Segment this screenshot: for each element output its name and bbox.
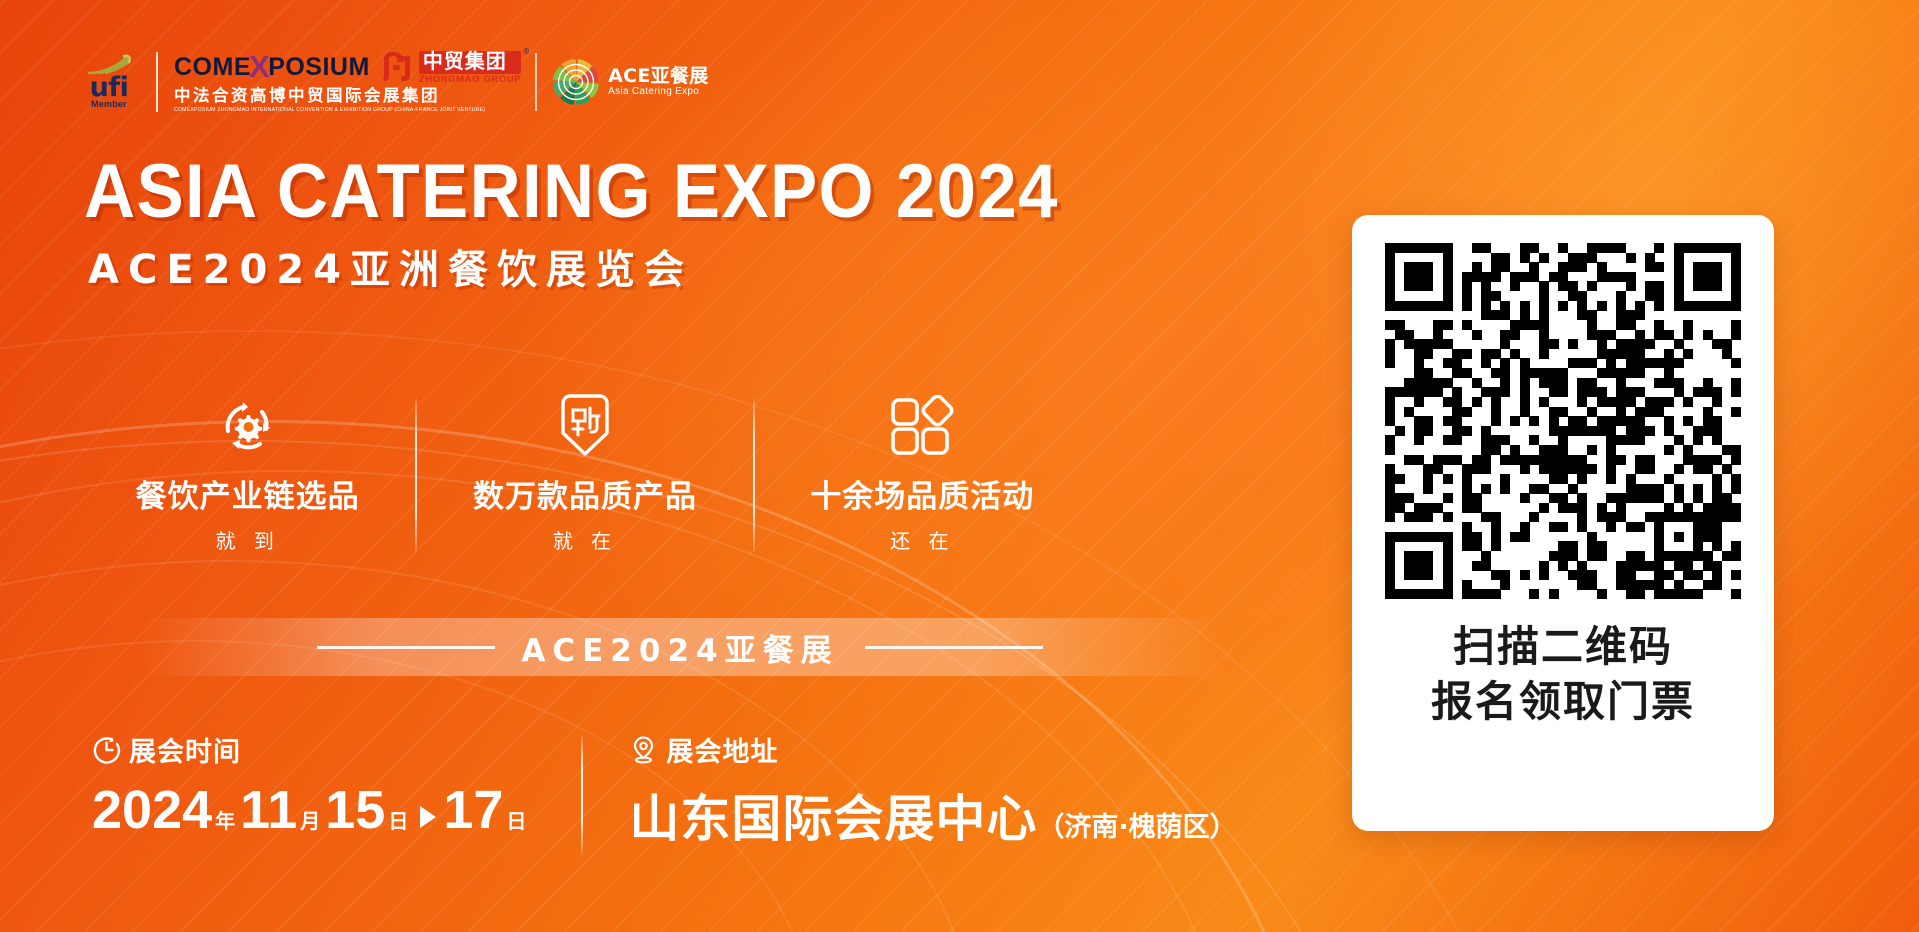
- event-venue-value: 山东国际会展中心 （济南·槐荫区）: [629, 779, 1236, 851]
- zhongmao-text: 中贸集团® ZHONGMAO GROUP: [419, 51, 521, 85]
- gear-cycle-icon: [216, 395, 280, 457]
- venue-name: 山东国际会展中心: [629, 779, 1037, 851]
- feature-icon-wrap: [889, 395, 955, 457]
- registered-trademark-icon: ®: [523, 48, 530, 56]
- event-venue-header: 展会地址: [629, 730, 1236, 769]
- event-month-unit: 月: [300, 805, 320, 834]
- comexposium-logo: COMEXPOSIUM 中贸集团® ZHONGMAO GROUP 中法合资高博中…: [174, 50, 521, 113]
- event-time-block: 展会时间 2024 年 11 月 15 日 17 日: [92, 730, 531, 841]
- ribbon-text: ACE2024亚餐展: [521, 625, 838, 670]
- zhongmao-english-name: ZHONGMAO GROUP: [419, 75, 521, 85]
- shield-quality-icon: [556, 393, 614, 459]
- feature-subtitle: 就 到: [215, 525, 279, 554]
- promo-banner: ufi Member COMEXPOSIUM 中贸集团® ZHONGMAO: [0, 0, 1919, 932]
- comexposium-chinese-name: 中法合资高博中贸国际会展集团: [174, 87, 521, 104]
- ribbon-line-right: [865, 646, 1043, 649]
- event-year-unit: 年: [215, 805, 235, 834]
- comexposium-x-glyph: X: [249, 55, 270, 80]
- ufi-wordmark: ufi: [90, 75, 129, 101]
- location-pin-icon: [629, 735, 658, 764]
- ace-chinese-name: ACE亚餐展: [608, 67, 708, 87]
- event-venue-label: 展会地址: [666, 730, 778, 769]
- event-day-end-unit: 日: [506, 805, 526, 834]
- feature-icon-wrap: [216, 395, 280, 457]
- logo-divider: [156, 52, 158, 112]
- event-info-row: 展会时间 2024 年 11 月 15 日 17 日: [92, 730, 1237, 854]
- page-subtitle: ACE2024亚洲餐饮展览会: [88, 237, 693, 295]
- event-year: 2024: [92, 779, 212, 841]
- event-day-end: 17: [443, 779, 503, 841]
- event-time-header: 展会时间: [92, 730, 531, 769]
- ribbon-line-left: [317, 646, 495, 649]
- logo-divider: [535, 53, 537, 111]
- comexposium-name-right: POSIUM: [268, 53, 370, 82]
- comexposium-top-row: COMEXPOSIUM 中贸集团® ZHONGMAO GROUP: [174, 50, 521, 84]
- feature-title: 数万款品质产品: [473, 471, 697, 516]
- feature-title: 十余场品质活动: [810, 471, 1034, 516]
- ace-logo: ACE亚餐展 Asia Catering Expo: [551, 57, 708, 107]
- qr-caption-line-1: 扫描二维码: [1431, 619, 1695, 674]
- zhongmao-logo: 中贸集团® ZHONGMAO GROUP: [380, 50, 521, 84]
- zhongmao-chinese-name: 中贸集团®: [419, 51, 521, 74]
- feature-icon-wrap: [556, 395, 614, 457]
- feature-item-supply-chain: 餐饮产业链选品 就 到: [80, 395, 415, 554]
- event-time-label: 展会时间: [129, 730, 241, 769]
- page-title: ASIA CATERING EXPO 2024: [84, 148, 1059, 235]
- zhongmao-mark-icon: [380, 50, 414, 84]
- ace-english-name: Asia Catering Expo: [608, 87, 708, 98]
- sponsor-logo-row: ufi Member COMEXPOSIUM 中贸集团® ZHONGMAO: [78, 44, 709, 120]
- comexposium-english-name: COMEXPOSIUM ZHONGMAO INTERNATIONAL CONVE…: [174, 108, 521, 114]
- four-shapes-icon: [889, 395, 955, 457]
- qr-caption-line-2: 报名领取门票: [1431, 674, 1695, 729]
- ace-logo-text: ACE亚餐展 Asia Catering Expo: [608, 67, 708, 97]
- qr-registration-card[interactable]: 扫描二维码 报名领取门票: [1352, 215, 1774, 831]
- feature-item-quality-products: 数万款品质产品 就 在: [417, 395, 752, 554]
- ribbon-strip: ACE2024亚餐展: [140, 618, 1220, 676]
- date-range-arrow-icon: [420, 806, 436, 828]
- event-month: 11: [240, 779, 297, 841]
- feature-subtitle: 还 在: [890, 525, 954, 554]
- ufi-logo: ufi Member: [78, 54, 140, 111]
- venue-district: （济南·槐荫区）: [1037, 805, 1236, 844]
- qr-code-image[interactable]: [1385, 243, 1741, 599]
- clock-icon: [92, 735, 121, 764]
- info-divider: [581, 736, 583, 854]
- feature-list: 餐饮产业链选品 就 到 数万款品质产品 就: [80, 395, 1090, 554]
- event-day-start: 15: [325, 779, 385, 841]
- feature-item-quality-events: 十余场品质活动 还 在: [755, 395, 1090, 554]
- event-venue-block: 展会地址 山东国际会展中心 （济南·槐荫区）: [629, 730, 1236, 851]
- feature-subtitle: 就 在: [553, 525, 617, 554]
- qr-caption: 扫描二维码 报名领取门票: [1431, 619, 1695, 730]
- event-date-value: 2024 年 11 月 15 日 17 日: [92, 779, 531, 841]
- ufi-member-label: Member: [91, 100, 127, 110]
- event-day-start-unit: 日: [388, 805, 408, 834]
- comexposium-wordmark: COMEXPOSIUM: [174, 53, 370, 82]
- comexposium-name-left: COME: [174, 53, 251, 82]
- ace-fan-icon: [551, 57, 601, 107]
- feature-title: 餐饮产业链选品: [136, 471, 360, 516]
